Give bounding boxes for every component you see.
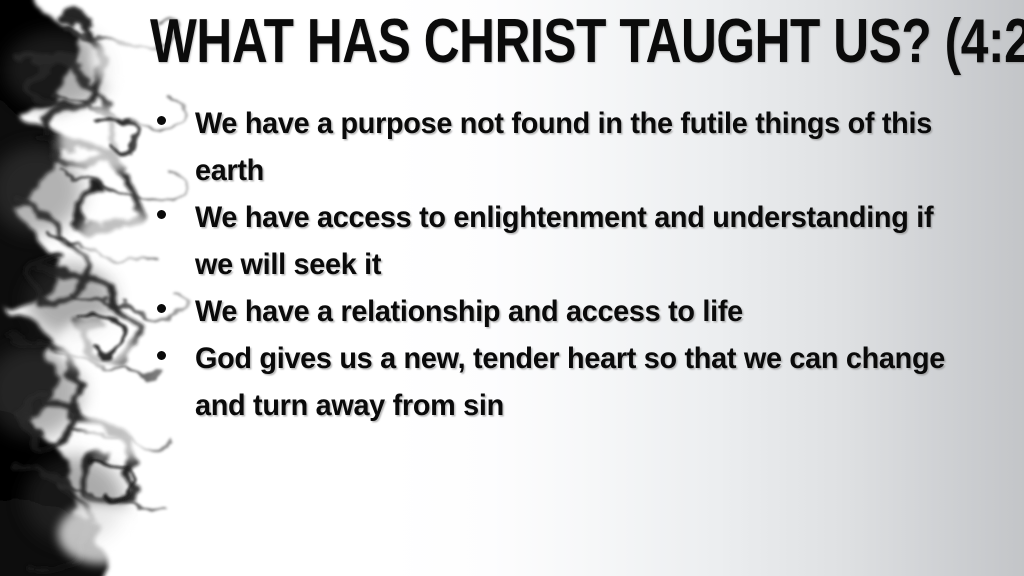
bullet-dot-icon (157, 116, 166, 125)
bullet-dot-icon (157, 304, 166, 313)
page-title: WHAT HAS CHRIST TAUGHT US? (4:20-21) (150, 6, 846, 78)
list-item: We have a purpose not found in the futil… (150, 100, 1010, 194)
list-item: We have a relationship and access to lif… (150, 288, 1010, 335)
bullet-text: We have a relationship and access to lif… (195, 288, 977, 335)
list-item: God gives us a new, tender heart so that… (150, 335, 1010, 429)
bullet-text: We have access to enlightenment and unde… (195, 194, 977, 288)
slide-content: WHAT HAS CHRIST TAUGHT US? (4:20-21) We … (0, 0, 1024, 576)
bullet-dot-icon (157, 210, 166, 219)
bullet-list: We have a purpose not found in the futil… (150, 100, 1010, 429)
bullet-dot-icon (157, 351, 166, 360)
bullet-text: We have a purpose not found in the futil… (195, 100, 977, 194)
presentation-slide: WHAT HAS CHRIST TAUGHT US? (4:20-21) We … (0, 0, 1024, 576)
bullet-text: God gives us a new, tender heart so that… (195, 335, 977, 429)
list-item: We have access to enlightenment and unde… (150, 194, 1010, 288)
